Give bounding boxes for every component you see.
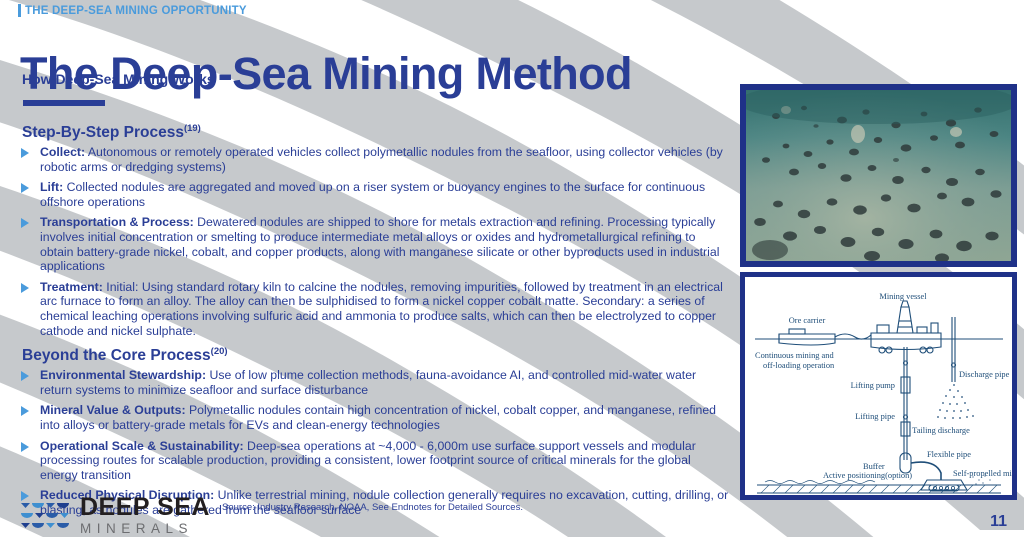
bullet-lead-label: Operational Scale & Sustainability:: [40, 439, 244, 453]
bullet-body-text: Initial: Using standard rotary kiln to c…: [40, 280, 723, 338]
bullet-mineral-value-outputs: Mineral Value & Outputs: Polymetallic no…: [18, 403, 730, 432]
bullet-lead-label: Mineral Value & Outputs:: [40, 403, 186, 417]
wave-logo-icon: [20, 498, 72, 532]
triangle-bullet-icon: [21, 371, 29, 381]
diagram-label-active-positioning: Active positioning(option): [823, 471, 912, 480]
deep-sea-mining-system-diagram: Mining vessel Ore carrier Continuous min…: [745, 277, 1012, 495]
eyebrow-accent-bar: [18, 4, 21, 17]
diagram-label-off-loading: off-loading operation: [763, 361, 835, 370]
bullet-body: Mineral Value & Outputs: Polymetallic no…: [40, 403, 730, 432]
triangle-bullet-icon: [21, 406, 29, 416]
bullet-marker: [18, 368, 40, 381]
eyebrow: THE DEEP-SEA MINING OPPORTUNITY: [18, 4, 247, 17]
page-number: 11: [990, 513, 1007, 531]
bullet-marker: [18, 439, 40, 452]
section-heading-step-by-step: Step-By-Step Process(19): [22, 124, 730, 141]
bullet-collect: Collect: Autonomous or remotely operated…: [18, 145, 730, 174]
title-underline-rule: [23, 100, 105, 106]
seafloor-photo-frame: [740, 84, 1017, 267]
diagram-label-tailing-discharge: Tailing discharge: [912, 426, 970, 435]
page-subtitle: How Deep-Sea Mining Works: [22, 71, 215, 87]
bullet-lead-label: Transportation & Process:: [40, 215, 194, 229]
eyebrow-label: THE DEEP-SEA MINING OPPORTUNITY: [25, 5, 247, 17]
source-note: Source: Industry Research, NOAA, See End…: [222, 502, 523, 513]
diagram-label-buffer: Buffer: [863, 462, 885, 471]
triangle-bullet-icon: [21, 148, 29, 158]
bullet-body: Treatment: Initial: Using standard rotar…: [40, 280, 730, 338]
bullet-body-text: Autonomous or remotely operated vehicles…: [40, 145, 723, 174]
bullet-transportation-process: Transportation & Process: Dewatered nodu…: [18, 215, 730, 273]
bullet-operational-scale-sustainability: Operational Scale & Sustainability: Deep…: [18, 439, 730, 483]
deep-sea-mining-system-diagram-frame: Mining vessel Ore carrier Continuous min…: [740, 272, 1017, 500]
content-column: Step-By-Step Process(19) Collect: Autono…: [18, 124, 730, 523]
bullet-treatment: Treatment: Initial: Using standard rotar…: [18, 280, 730, 338]
bullet-marker: [18, 403, 40, 416]
bullet-body-text: Collected nodules are aggregated and mov…: [40, 180, 705, 209]
section-heading-text: Beyond the Core Process: [22, 347, 211, 364]
bullet-lead-label: Treatment:: [40, 280, 103, 294]
section-heading-beyond-core: Beyond the Core Process(20): [22, 347, 730, 364]
bullet-lead-label: Environmental Stewardship:: [40, 368, 206, 382]
diagram-label-lifting-pipe: Lifting pipe: [855, 412, 895, 421]
diagram-label-mining-vessel: Mining vessel: [879, 292, 927, 301]
diagram-label-lifting-pump: Lifting pump: [851, 381, 895, 390]
bullet-marker: [18, 180, 40, 193]
bullet-body: Transportation & Process: Dewatered nodu…: [40, 215, 730, 273]
section-footnote-marker: (20): [211, 346, 228, 357]
bullet-environmental-stewardship: Environmental Stewardship: Use of low pl…: [18, 368, 730, 397]
bullet-lead-label: Lift:: [40, 180, 63, 194]
bullet-marker: [18, 215, 40, 228]
bullet-body: Lift: Collected nodules are aggregated a…: [40, 180, 730, 209]
bullet-body: Environmental Stewardship: Use of low pl…: [40, 368, 730, 397]
diagram-label-discharge-pipe: Discharge pipe: [959, 370, 1010, 379]
seafloor-photo: [746, 90, 1011, 261]
company-logo: DEEP SEA MINERALS: [20, 495, 210, 536]
logo-primary-text: DEEP SEA: [80, 495, 210, 520]
diagram-label-flexible-pipe: Flexible pipe: [927, 450, 971, 459]
triangle-bullet-icon: [21, 283, 29, 293]
bullet-marker: [18, 145, 40, 158]
logo-secondary-text: MINERALS: [80, 522, 210, 536]
diagram-label-continuous-mining: Continuous mining and: [755, 351, 834, 360]
bullet-body: Collect: Autonomous or remotely operated…: [40, 145, 730, 174]
bullet-lift: Lift: Collected nodules are aggregated a…: [18, 180, 730, 209]
section-heading-text: Step-By-Step Process: [22, 124, 184, 141]
bullet-lead-label: Collect:: [40, 145, 85, 159]
slide-root: THE DEEP-SEA MINING OPPORTUNITY The Deep…: [0, 0, 1024, 537]
bullet-marker: [18, 280, 40, 293]
triangle-bullet-icon: [21, 183, 29, 193]
triangle-bullet-icon: [21, 442, 29, 452]
triangle-bullet-icon: [21, 218, 29, 228]
bullet-body: Operational Scale & Sustainability: Deep…: [40, 439, 730, 483]
section-footnote-marker: (19): [184, 123, 201, 134]
logo-wordmark: DEEP SEA MINERALS: [80, 495, 210, 536]
diagram-label-ore-carrier: Ore carrier: [789, 316, 826, 325]
diagram-label-self-propelled-miner: Self-propelled miner: [953, 469, 1012, 478]
